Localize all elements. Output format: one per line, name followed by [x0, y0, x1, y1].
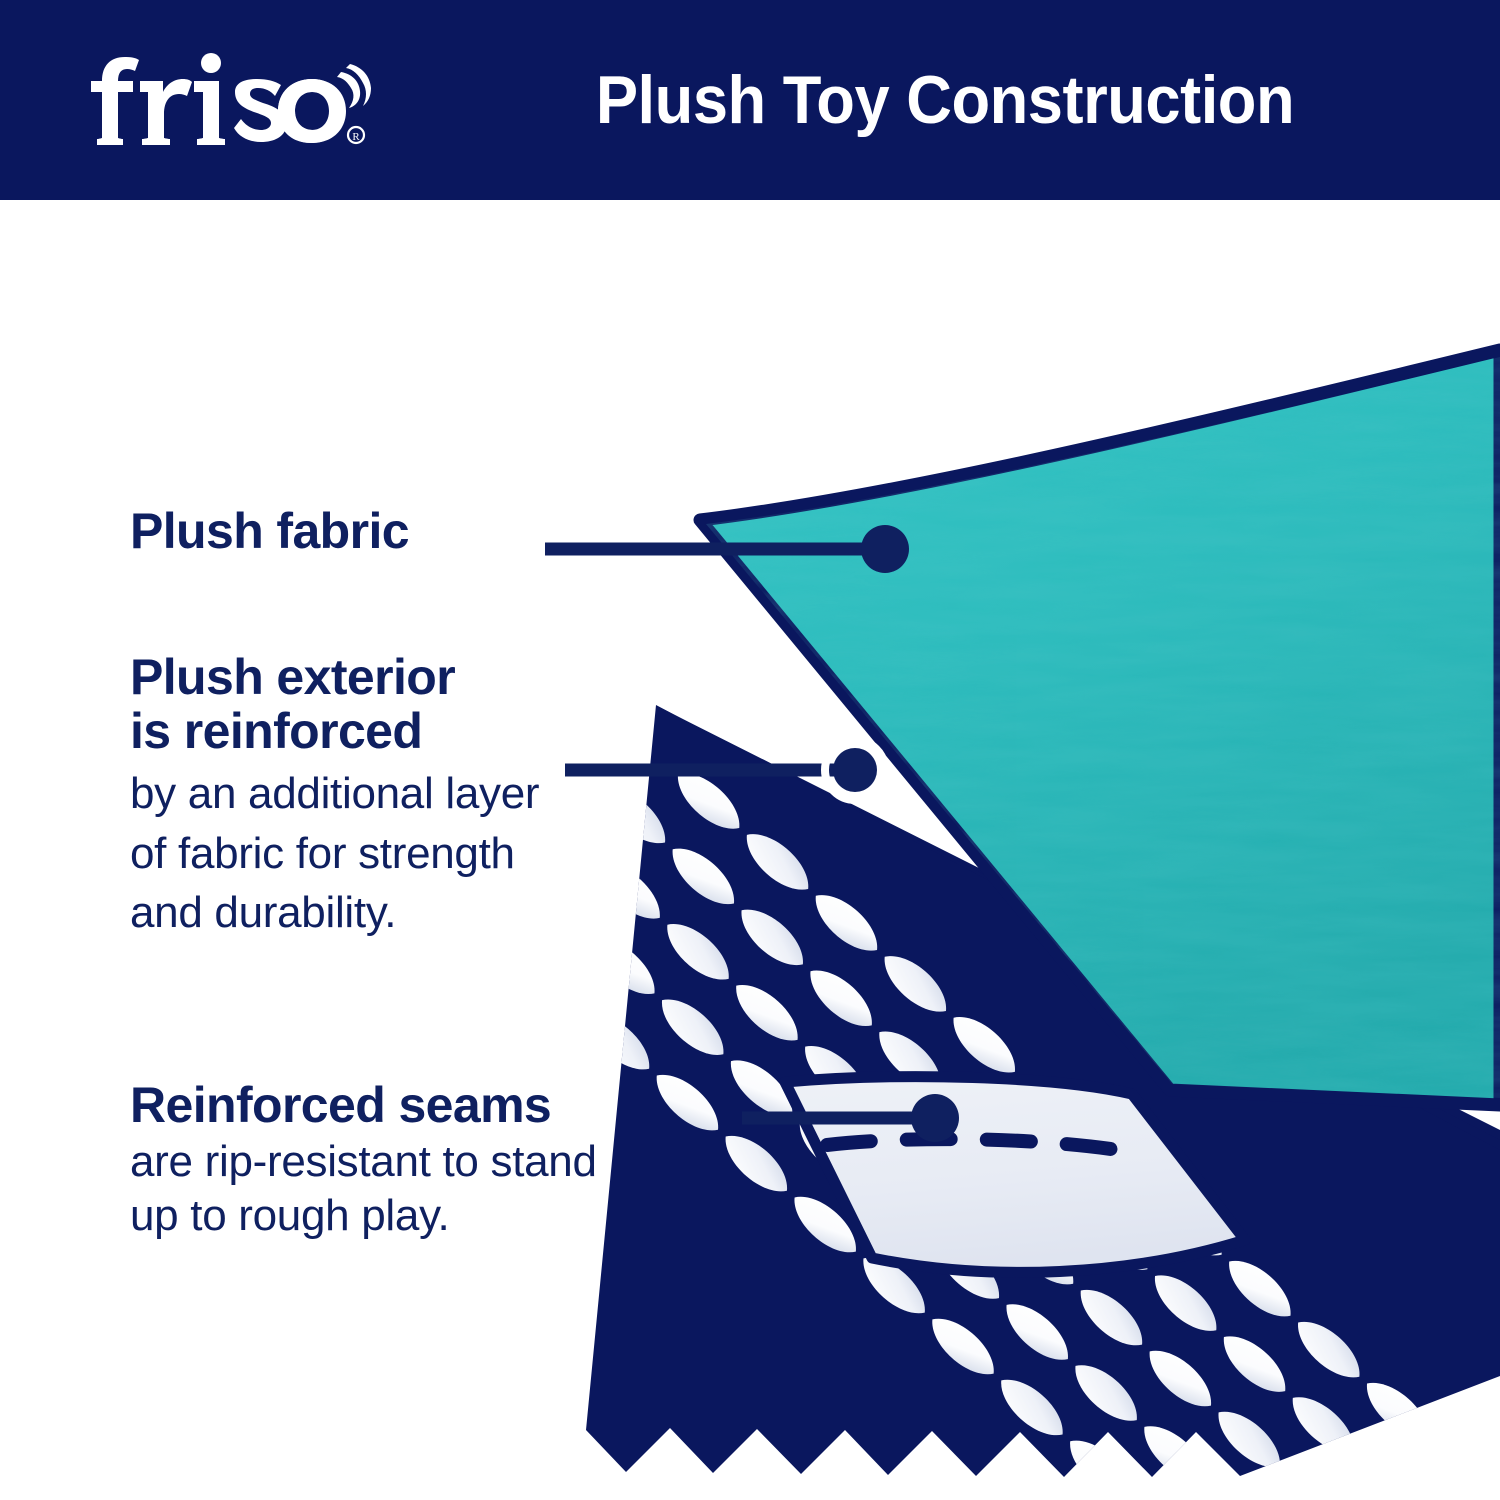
- callout-body-line: by an additional layer: [130, 770, 539, 818]
- marker-dot-plush-fabric: [861, 525, 909, 573]
- callout-plush-exterior: Plush exterior is reinforced by an addit…: [130, 650, 539, 937]
- callout-heading-line: Reinforced seams: [130, 1078, 597, 1132]
- callout-body-line: up to rough play.: [130, 1192, 597, 1240]
- frisco-wordmark-logo: R: [88, 50, 388, 155]
- callout-body-line: of fabric for strength: [130, 830, 539, 878]
- marker-ring-plush-exterior: [833, 748, 877, 792]
- callout-heading-line: is reinforced: [130, 704, 539, 758]
- marker-dot-reinforced-seams: [911, 1094, 959, 1142]
- header-bar: R Plush Toy Construction: [0, 0, 1500, 200]
- page-title: Plush Toy Construction: [536, 48, 1354, 152]
- callout-heading-line: Plush fabric: [130, 504, 409, 558]
- registered-trademark-icon: R: [348, 127, 364, 143]
- callout-body-line: and durability.: [130, 889, 539, 937]
- callout-heading-line: Plush exterior: [130, 650, 539, 704]
- infographic-page: R Plush Toy Construction: [0, 0, 1500, 1500]
- callout-reinforced-seams: Reinforced seams are rip-resistant to st…: [130, 1078, 597, 1239]
- callout-plush-fabric: Plush fabric: [130, 504, 409, 558]
- svg-text:R: R: [352, 131, 360, 143]
- callout-body-line: are rip-resistant to stand: [130, 1138, 597, 1186]
